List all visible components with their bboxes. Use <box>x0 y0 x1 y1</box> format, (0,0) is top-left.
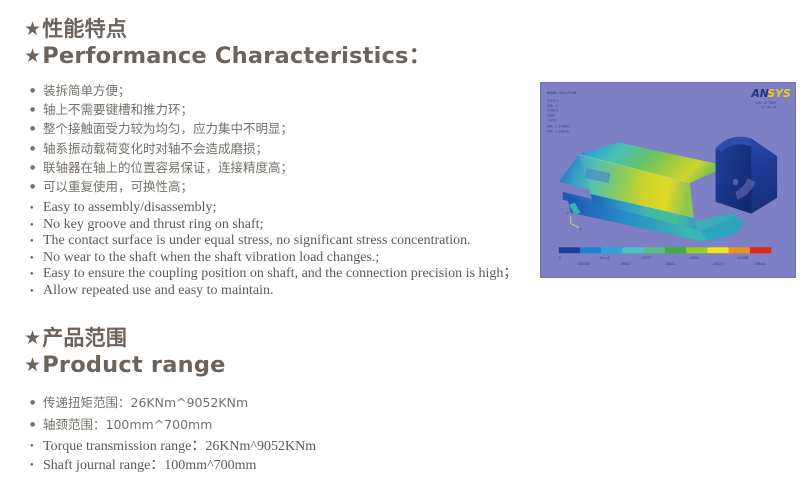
svg-text:Y: Y <box>567 212 569 216</box>
svg-text:STEP=1: STEP=1 <box>547 99 559 103</box>
list-item-text: 联轴器在轴上的位置容易保证，连接精度高； <box>43 160 293 175</box>
product-range-heading-en-text: Product range <box>42 352 225 378</box>
performance-heading-en-text: Performance Characteristics： <box>42 43 431 69</box>
list-item-text: Torque transmission range：26KNm^9052KNm <box>43 439 316 454</box>
star-icon: ★ <box>24 18 41 40</box>
svg-text:X: X <box>580 227 582 231</box>
svg-text:(AVG): (AVG) <box>547 119 557 123</box>
list-item-text: The contact surface is under equal stres… <box>43 233 471 248</box>
product-range-heading: ★产品范围 ★Product range <box>24 325 226 379</box>
list-item: 装拆简单方便； <box>30 81 293 100</box>
svg-text:SYS: SYS <box>767 87 791 100</box>
performance-heading-cn: ★性能特点 <box>24 16 431 42</box>
list-item-text: 轴颈范围：100mm^700mm <box>43 417 212 432</box>
list-item: 轴上不需要键槽和推力环； <box>30 100 293 119</box>
product-range-bullets-cn: 传递扭矩范围：26KNm^9052KNm 轴颈范围：100mm^700mm <box>30 392 248 436</box>
list-item-text: Shaft journal range：100mm^700mm <box>43 458 256 473</box>
list-item: 轴颈范围：100mm^700mm <box>30 414 248 436</box>
list-item: 传递扭矩范围：26KNm^9052KNm <box>30 392 248 414</box>
svg-text:07:48:44: 07:48:44 <box>761 106 776 110</box>
list-item: No key groove and thrust ring on shaft; <box>30 217 517 234</box>
list-item-text: 装拆简单方便； <box>43 83 131 98</box>
svg-text:JUN 18 2009: JUN 18 2009 <box>755 101 776 105</box>
list-item: 可以重复使用，可换性高； <box>30 177 293 196</box>
list-item-text: Easy to assembly/disassembly; <box>43 200 216 215</box>
svg-text:SUB =1: SUB =1 <box>547 104 559 108</box>
svg-text:.16841: .16841 <box>664 262 675 266</box>
list-item-text: 可以重复使用，可换性高； <box>43 179 193 194</box>
performance-heading: ★性能特点 ★Performance Characteristics： <box>24 16 431 70</box>
svg-text:.033183: .033183 <box>577 262 590 266</box>
performance-bullets-en: Easy to assembly/disassembly; No key gro… <box>30 200 517 300</box>
list-item: Torque transmission range：26KNm^9052KNm <box>30 437 316 456</box>
list-item: 联轴器在轴上的位置容易保证，连接精度高； <box>30 158 293 177</box>
svg-text:0: 0 <box>559 256 561 260</box>
list-item-text: 轴上不需要键槽和推力环； <box>43 102 193 117</box>
star-icon: ★ <box>24 327 41 349</box>
svg-text:TIME=1: TIME=1 <box>547 109 559 113</box>
performance-heading-en: ★Performance Characteristics： <box>24 42 431 70</box>
list-item-text: Easy to ensure the coupling position on … <box>43 266 517 281</box>
list-item: Shaft journal range：100mm^700mm <box>30 456 316 475</box>
performance-heading-cn-text: 性能特点 <box>42 17 127 41</box>
list-item: The contact surface is under equal stres… <box>30 233 517 250</box>
svg-text:.2x34CB: .2x34CB <box>735 256 748 260</box>
svg-text:SEQV: SEQV <box>547 114 555 118</box>
product-range-heading-en: ★Product range <box>24 351 226 379</box>
performance-bullets-cn: 装拆简单方便； 轴上不需要键槽和推力环； 整个接触面受力较为均匀，应力集中不明显… <box>30 81 293 196</box>
list-item: Easy to assembly/disassembly; <box>30 200 517 217</box>
svg-text:.296x41: .296x41 <box>753 262 766 266</box>
svg-text:.8e+x5: .8e+x5 <box>599 256 610 260</box>
list-item: 轴系振动载荷变化时对轴不会造成磨损； <box>30 139 293 158</box>
star-icon: ★ <box>24 354 41 376</box>
list-item-text: Allow repeated use and easy to maintain. <box>43 283 274 298</box>
list-item-text: No key groove and thrust ring on shaft; <box>43 217 263 232</box>
list-item: 整个接触面受力较为均匀，应力集中不明显； <box>30 119 293 138</box>
ansys-fea-svg: NODAL SOLUTION STEP=1 SUB =1 TIME=1 SEQV… <box>541 83 795 277</box>
list-item-text: 传递扭矩范围：26KNm^9052KNm <box>43 395 248 410</box>
list-item: Allow repeated use and easy to maintain. <box>30 283 517 300</box>
svg-text:.18985: .18985 <box>688 256 699 260</box>
svg-text:.13273: .13273 <box>640 256 651 260</box>
star-icon: ★ <box>24 45 41 67</box>
list-item: Easy to ensure the coupling position on … <box>30 266 517 283</box>
list-item-text: 整个接触面受力较为均匀，应力集中不明显； <box>43 121 293 136</box>
ansys-fea-figure: NODAL SOLUTION STEP=1 SUB =1 TIME=1 SEQV… <box>540 82 796 278</box>
list-item: No wear to the shaft when the shaft vibr… <box>30 250 517 267</box>
product-range-heading-cn-text: 产品范围 <box>42 326 127 350</box>
product-range-heading-cn: ★产品范围 <box>24 325 226 351</box>
svg-text:.232277: .232277 <box>712 262 725 266</box>
list-item-text: No wear to the shaft when the shaft vibr… <box>43 250 379 265</box>
svg-text:SMX =.296142: SMX =.296142 <box>547 129 570 133</box>
svg-text:NODAL SOLUTION: NODAL SOLUTION <box>547 91 576 95</box>
product-range-bullets-en: Torque transmission range：26KNm^9052KNm … <box>30 437 316 475</box>
list-item-text: 轴系振动载荷变化时对轴不会造成磨损； <box>43 141 268 156</box>
svg-text:.09047: .09047 <box>619 262 630 266</box>
svg-text:DMX =.279662: DMX =.279662 <box>547 125 570 129</box>
svg-text:AN: AN <box>750 87 769 100</box>
